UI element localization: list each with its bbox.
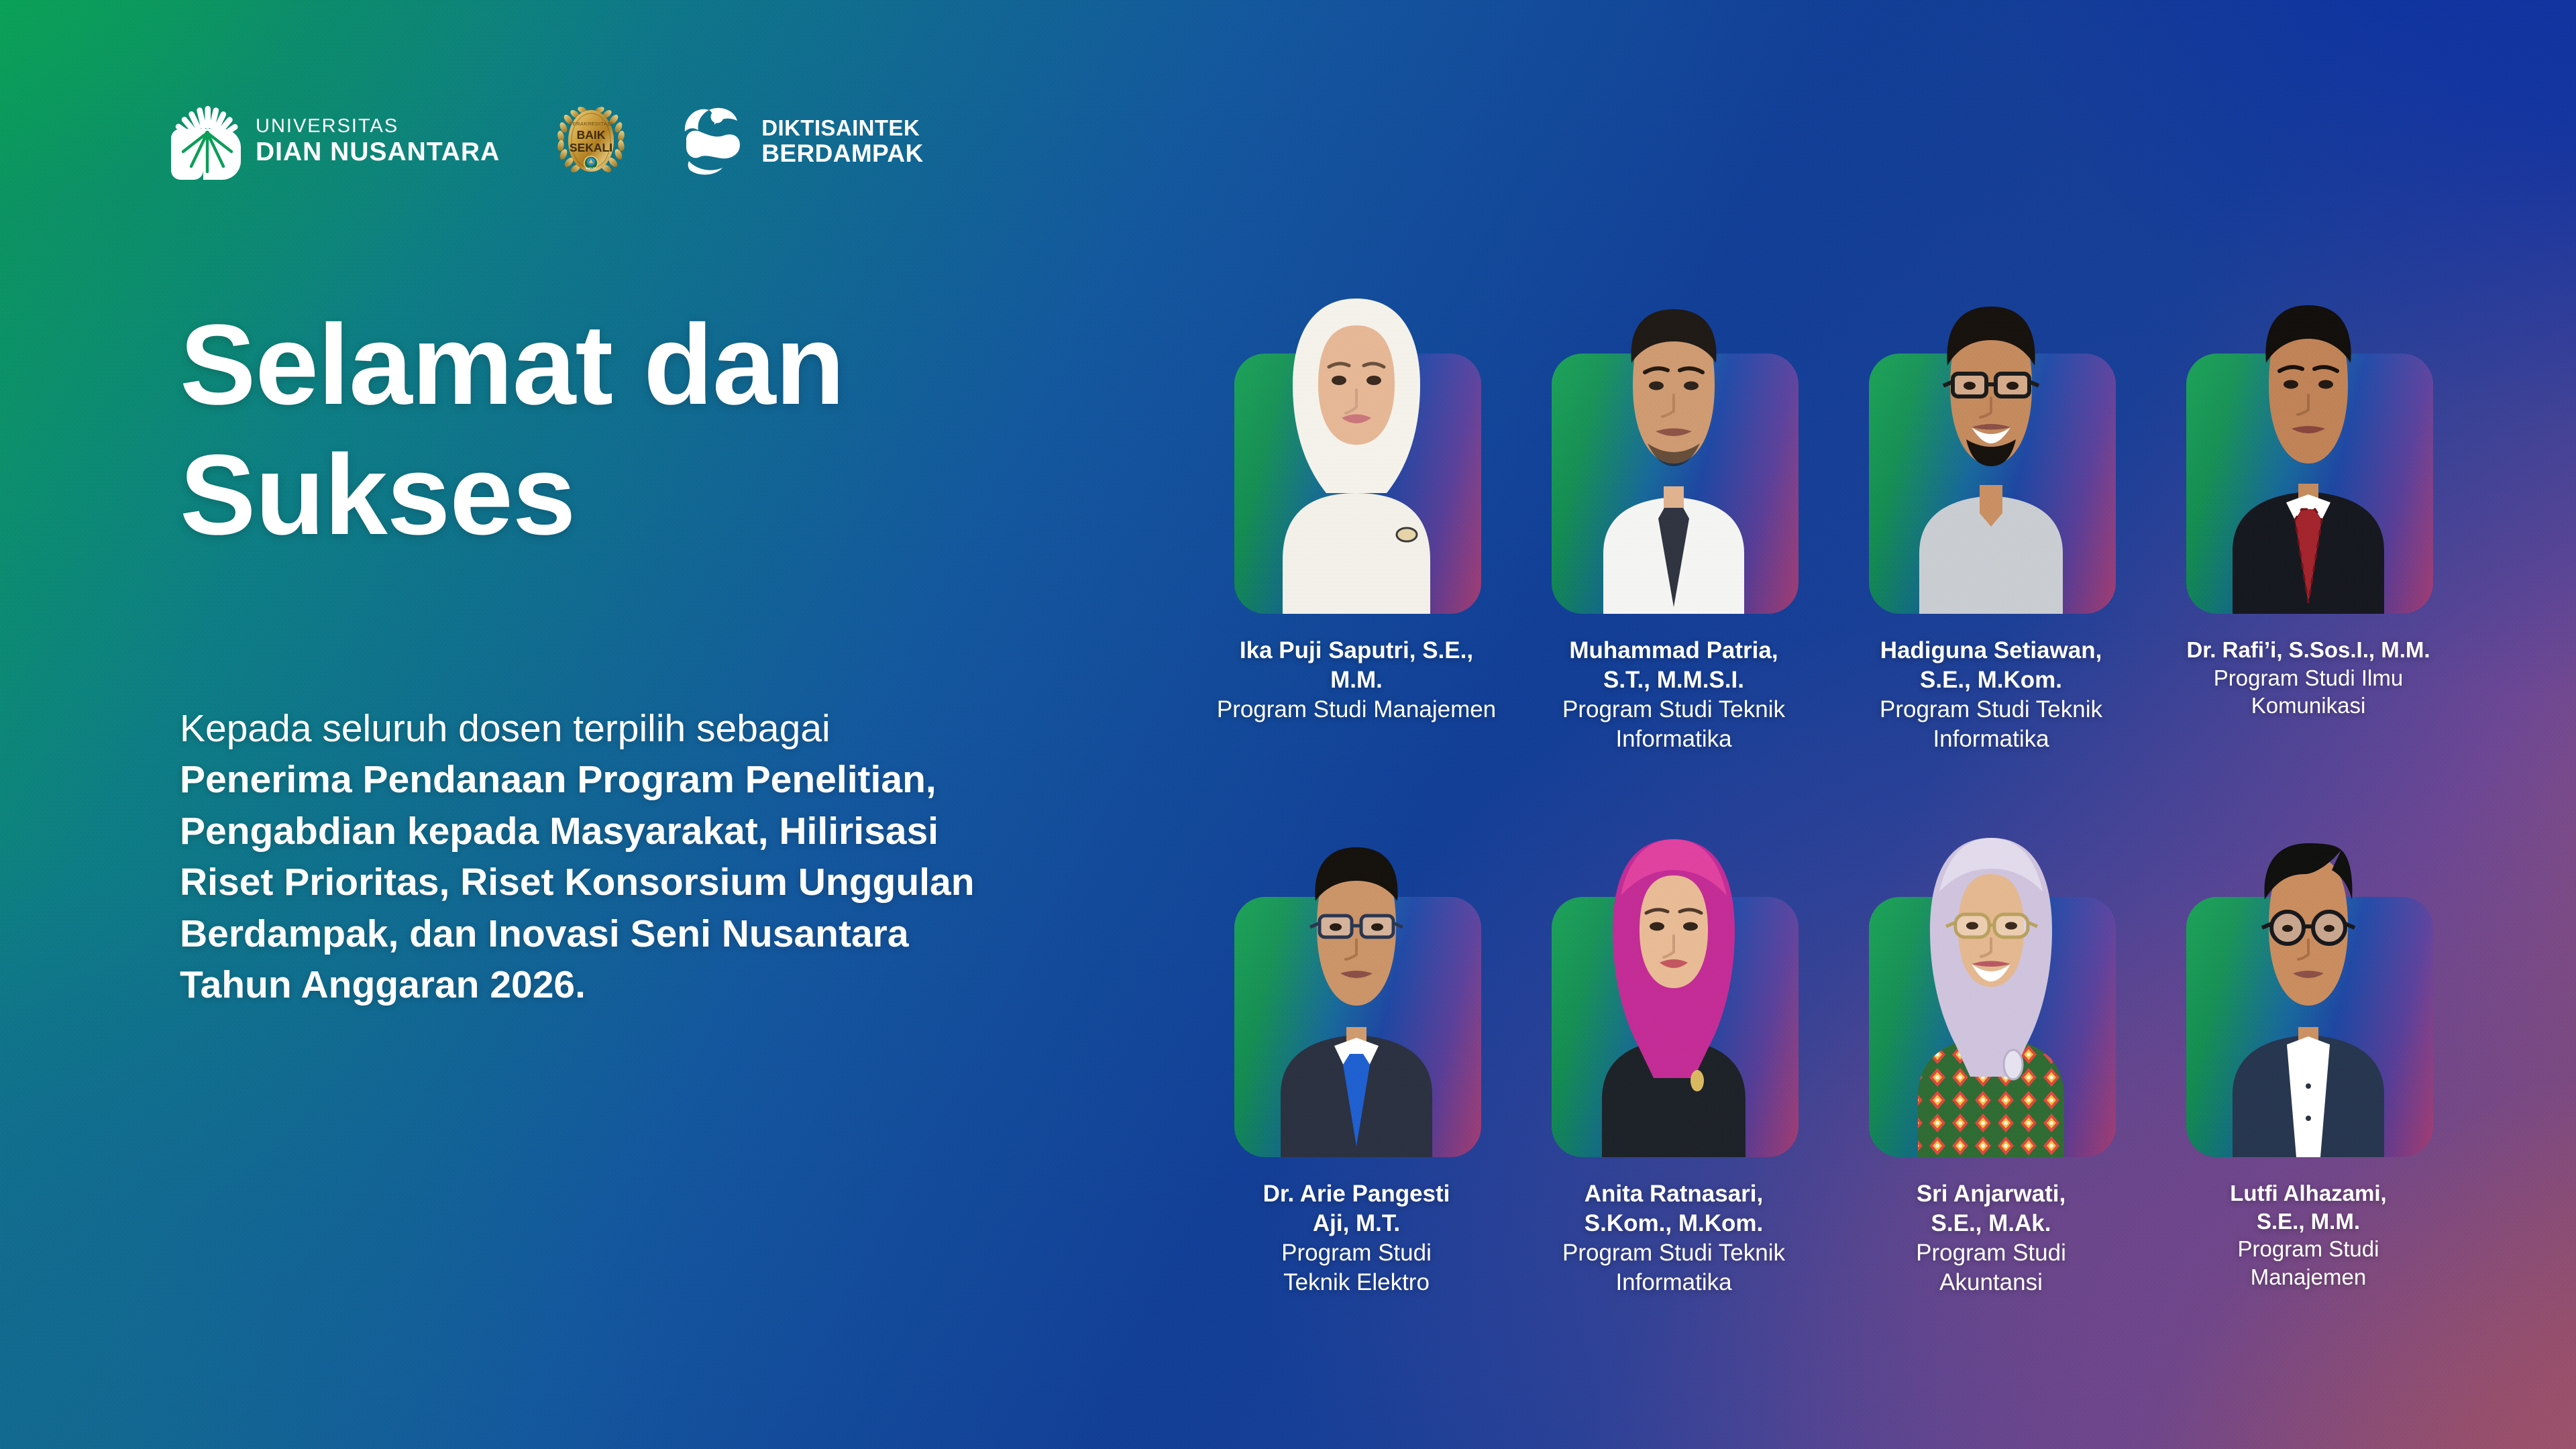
body-copy-line: Kepada seluruh dosen terpilih sebagai xyxy=(180,703,1112,754)
ministry-logo: DIKTISAINTEK BERDAMPAK xyxy=(678,103,923,178)
university-name-line1: UNIVERSITAS xyxy=(256,117,500,136)
recipient-program-line: Program Studi Teknik xyxy=(1530,1238,1817,1268)
recipient-name-line: S.E., M.Ak. xyxy=(1847,1209,2135,1238)
recipient-program-line: Program Studi Teknik xyxy=(1847,695,2135,724)
recipient-card[interactable]: Anita Ratnasari, S.Kom., M.Kom. Program … xyxy=(1540,812,1808,1355)
recipient-name-line: S.E., M.M. xyxy=(2165,1207,2452,1236)
congratulations-poster: UNIVERSITAS DIAN NUSANTARA xyxy=(0,0,2576,1449)
recipients-grid: Ika Puji Saputri, S.E., M.M. Program Stu… xyxy=(1222,268,2524,1382)
badge-baik-text: BAIK xyxy=(577,128,606,142)
recipient-program-line: Teknik Elektro xyxy=(1213,1268,1500,1297)
recipient-caption: Hadiguna Setiawan, S.E., M.Kom. Program … xyxy=(1847,636,2135,754)
recipient-program-line: Akuntansi xyxy=(1847,1268,2135,1297)
recipient-program-line: Program Studi xyxy=(2165,1235,2452,1263)
university-name-line2: DIAN NUSANTARA xyxy=(256,140,500,165)
badge-terakreditasi-text: TERAKREDITASI xyxy=(570,121,613,127)
recipient-caption: Dr. Rafi’i, S.Sos.I., M.M. Program Studi… xyxy=(2165,636,2452,720)
body-copy: Kepada seluruh dosen terpilih sebagai Pe… xyxy=(180,703,1112,1010)
recipient-program-line: Informatika xyxy=(1530,1268,1817,1297)
recipient-caption: Sri Anjarwati, S.E., M.Ak. Program Studi… xyxy=(1847,1179,2135,1297)
recipient-photo-card xyxy=(2186,897,2433,1157)
recipients-row: Dr. Arie Pangesti Aji, M.T. Program Stud… xyxy=(1222,812,2524,1355)
recipient-name-line: Lutfi Alhazami, xyxy=(2165,1179,2452,1207)
badge-sekali-text: SEKALI xyxy=(570,141,612,154)
recipient-card[interactable]: Dr. Arie Pangesti Aji, M.T. Program Stud… xyxy=(1222,812,1491,1355)
recipient-program-line: Program Studi xyxy=(1213,1238,1500,1268)
recipient-card[interactable]: Ika Puji Saputri, S.E., M.M. Program Stu… xyxy=(1222,268,1491,812)
recipient-photo-card xyxy=(1552,897,1799,1157)
recipient-caption: Ika Puji Saputri, S.E., M.M. Program Stu… xyxy=(1213,636,1500,724)
recipient-photo-card xyxy=(1552,354,1799,614)
headline-line: Selamat dan xyxy=(180,301,1132,431)
body-copy-line: Penerima Pendanaan Program Penelitian, xyxy=(180,754,1112,805)
recipient-name-line: Dr. Rafi’i, S.Sos.I., M.M. xyxy=(2165,636,2452,664)
recipient-name-line: Sri Anjarwati, xyxy=(1847,1179,2135,1209)
recipient-card[interactable]: Dr. Rafi’i, S.Sos.I., M.M. Program Studi… xyxy=(2174,268,2443,812)
recipient-name-line: Muhammad Patria, xyxy=(1530,636,1817,665)
recipient-program-line: Program Studi xyxy=(1847,1238,2135,1268)
recipient-name-line: Ika Puji Saputri, S.E., M.M. xyxy=(1213,636,1500,695)
body-copy-line: Berdampak, dan Inovasi Seni Nusantara xyxy=(180,908,1112,959)
header-logo-bar: UNIVERSITAS DIAN NUSANTARA xyxy=(171,99,924,182)
recipient-name-line: Hadiguna Setiawan, xyxy=(1847,636,2135,665)
recipient-photo-card xyxy=(1234,354,1481,614)
ministry-name-line2: BERDAMPAK xyxy=(761,141,923,166)
recipient-name-line: S.T., M.M.S.I. xyxy=(1530,665,1817,695)
body-copy-line: Riset Prioritas, Riset Konsorsium Unggul… xyxy=(180,857,1112,908)
university-logo: UNIVERSITAS DIAN NUSANTARA xyxy=(171,102,500,180)
recipient-caption: Lutfi Alhazami, S.E., M.M. Program Studi… xyxy=(2165,1179,2452,1291)
page-title: Selamat dan Sukses xyxy=(180,301,1132,561)
recipient-caption: Dr. Arie Pangesti Aji, M.T. Program Stud… xyxy=(1213,1179,1500,1297)
recipient-name-line: Anita Ratnasari, xyxy=(1530,1179,1817,1209)
body-copy-line: Pengabdian kepada Masyarakat, Hilirisasi xyxy=(180,806,1112,857)
recipients-row: Ika Puji Saputri, S.E., M.M. Program Stu… xyxy=(1222,268,2524,812)
recipient-card[interactable]: Muhammad Patria, S.T., M.M.S.I. Program … xyxy=(1540,268,1808,812)
recipient-photo-card xyxy=(1869,354,2116,614)
body-copy-line: Tahun Anggaran 2026. xyxy=(180,959,1112,1010)
recipient-name-line: Dr. Arie Pangesti xyxy=(1213,1179,1500,1209)
recipient-name-line: Aji, M.T. xyxy=(1213,1209,1500,1238)
recipient-program-line: Program Studi Teknik xyxy=(1530,695,1817,724)
dian-nusantara-mark-icon xyxy=(171,102,241,180)
recipient-card[interactable]: Lutfi Alhazami, S.E., M.M. Program Studi… xyxy=(2174,812,2443,1355)
accreditation-laurel-badge-icon: TERAKREDITASI BAIK SEKALI BAN-PT xyxy=(551,99,631,182)
recipient-program-line: Manajemen xyxy=(2165,1263,2452,1291)
recipient-name-line: S.Kom., M.Kom. xyxy=(1530,1209,1817,1238)
recipient-program-line: Program Studi Ilmu xyxy=(2165,664,2452,692)
recipient-program-line: Program Studi Manajemen xyxy=(1213,695,1500,724)
recipient-program-line: Informatika xyxy=(1530,724,1817,754)
recipient-photo-card xyxy=(1869,897,2116,1157)
recipient-caption: Muhammad Patria, S.T., M.M.S.I. Program … xyxy=(1530,636,1817,754)
diktisaintek-mark-icon xyxy=(678,103,748,178)
recipient-card[interactable]: Hadiguna Setiawan, S.E., M.Kom. Program … xyxy=(1857,268,2125,812)
recipient-photo-card xyxy=(2186,354,2433,614)
headline-line: Sukses xyxy=(180,431,1132,561)
recipient-photo-card xyxy=(1234,897,1481,1157)
recipient-program-line: Komunikasi xyxy=(2165,692,2452,720)
recipient-program-line: Informatika xyxy=(1847,724,2135,754)
badge-banpt-label: BAN-PT xyxy=(586,166,597,170)
recipient-caption: Anita Ratnasari, S.Kom., M.Kom. Program … xyxy=(1530,1179,1817,1297)
recipient-name-line: S.E., M.Kom. xyxy=(1847,665,2135,695)
recipient-card[interactable]: Sri Anjarwati, S.E., M.Ak. Program Studi… xyxy=(1857,812,2125,1355)
ministry-name-line1: DIKTISAINTEK xyxy=(761,117,923,139)
